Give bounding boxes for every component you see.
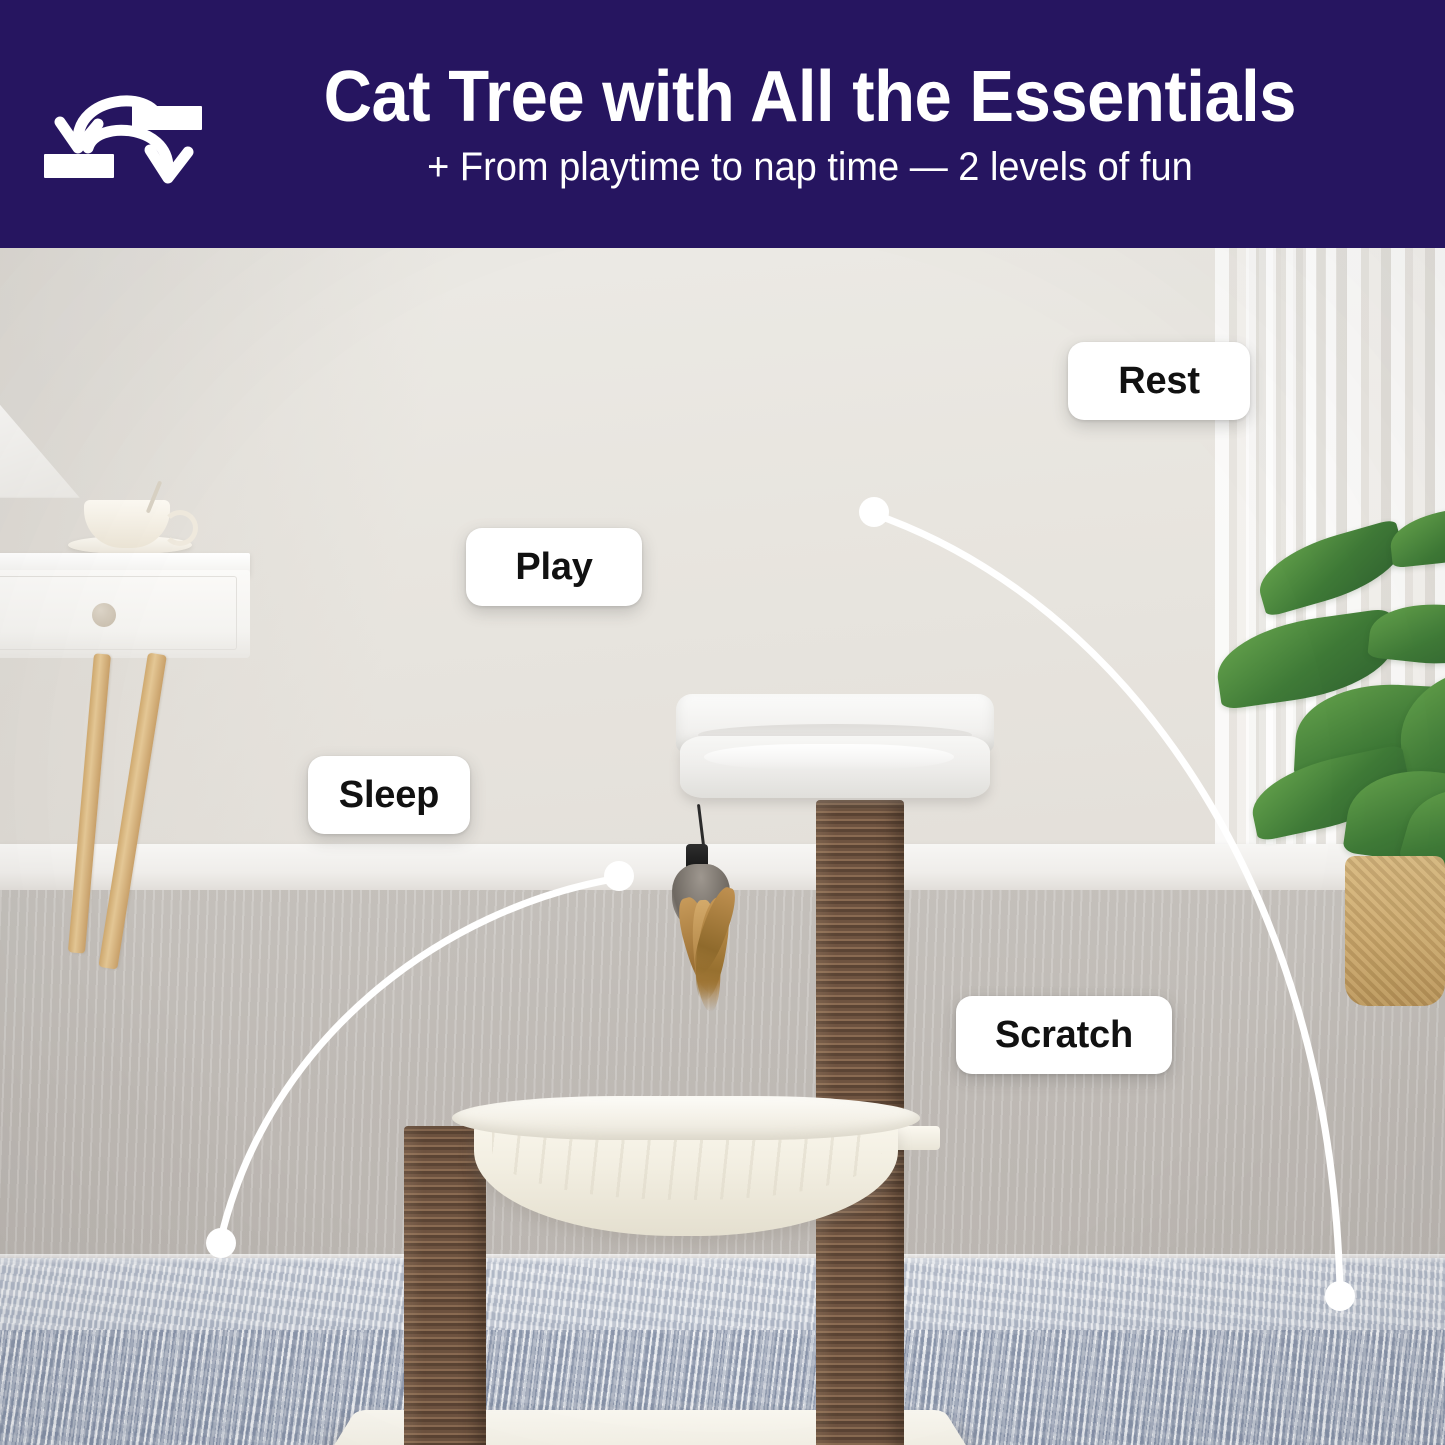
page-title: Cat Tree with All the Essentials <box>324 61 1296 133</box>
page-subtitle: + From playtime to nap time — 2 levels o… <box>427 147 1193 187</box>
header-banner: Cat Tree with All the Essentials + From … <box>0 0 1445 248</box>
callout-badge-sleep[interactable]: Sleep <box>308 756 470 834</box>
banner-text-block: Cat Tree with All the Essentials + From … <box>210 0 1410 248</box>
product-photo <box>0 248 1445 1445</box>
photo-vignette <box>0 248 1445 1445</box>
callout-badge-play[interactable]: Play <box>466 528 642 606</box>
infographic-canvas: Cat Tree with All the Essentials + From … <box>0 0 1445 1445</box>
callout-badge-scratch[interactable]: Scratch <box>956 996 1172 1074</box>
callout-badge-rest[interactable]: Rest <box>1068 342 1250 420</box>
swap-reorder-arrows-icon <box>42 62 202 202</box>
